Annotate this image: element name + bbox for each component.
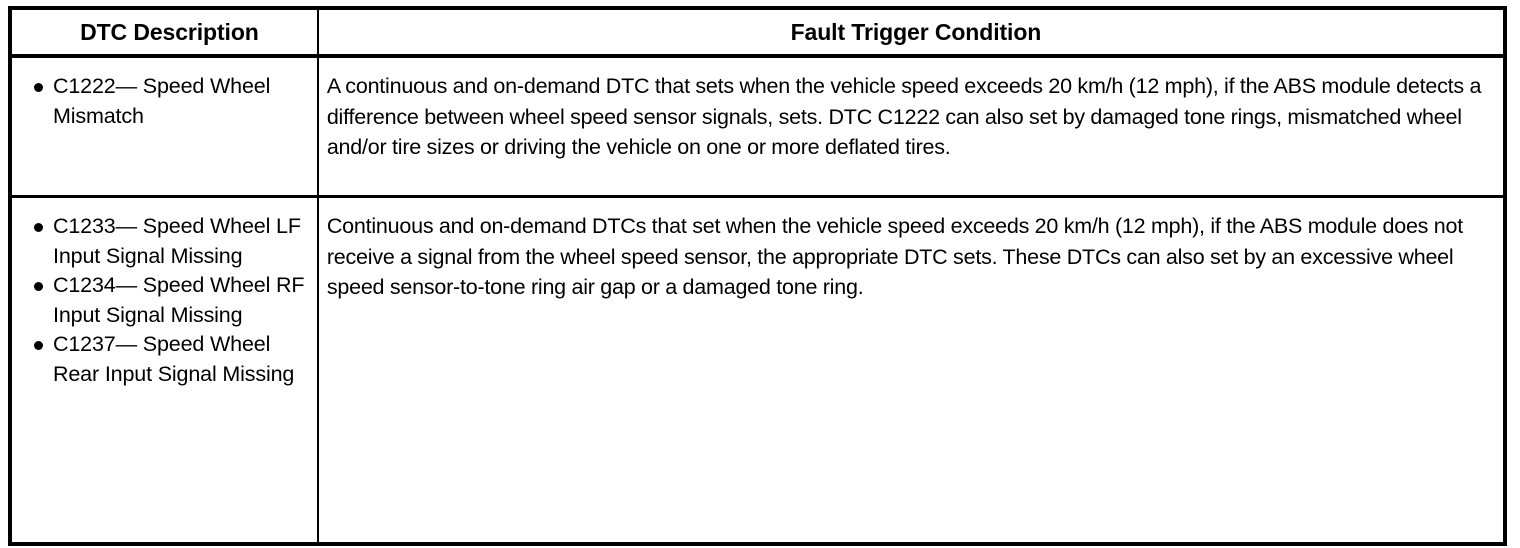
column-header-fault-trigger-condition-label: Fault Trigger Condition [319,10,1503,54]
bullet-icon [34,341,43,350]
table-header: DTC Description Fault Trigger Condition [10,8,1505,56]
list-item: C1237— Speed Wheel Rear Input Signal Mis… [22,330,311,389]
row-2-fault-trigger-condition-cell: Continuous and on-demand DTCs that set w… [318,197,1505,545]
table-body: C1222— Speed Wheel Mismatch A continuous… [10,56,1505,544]
row-1-condition-text: A continuous and on-demand DTC that sets… [319,58,1503,163]
table-row: C1233— Speed Wheel LF Input Signal Missi… [10,197,1505,545]
bullet-icon [34,282,43,291]
table-header-row: DTC Description Fault Trigger Condition [10,8,1505,56]
list-item: C1234— Speed Wheel RF Input Signal Missi… [22,271,311,330]
list-item-label: C1234— Speed Wheel RF Input Signal Missi… [53,271,311,330]
bullet-icon [34,223,43,232]
list-item: C1222— Speed Wheel Mismatch [22,72,311,131]
row-1-dtc-list: C1222— Speed Wheel Mismatch [12,58,317,131]
bullet-icon [34,83,43,92]
row-1-fault-trigger-condition-cell: A continuous and on-demand DTC that sets… [318,56,1505,197]
list-item-label: C1233— Speed Wheel LF Input Signal Missi… [53,212,311,271]
table-row: C1222— Speed Wheel Mismatch A continuous… [10,56,1505,197]
row-2-dtc-description-cell: C1233— Speed Wheel LF Input Signal Missi… [10,197,318,545]
row-1-dtc-description-cell: C1222— Speed Wheel Mismatch [10,56,318,197]
document-page: DTC Description Fault Trigger Condition … [0,0,1520,548]
list-item-label: C1237— Speed Wheel Rear Input Signal Mis… [53,330,311,389]
column-header-dtc-description-label: DTC Description [12,10,317,54]
row-2-dtc-list: C1233— Speed Wheel LF Input Signal Missi… [12,198,317,389]
row-2-condition-text: Continuous and on-demand DTCs that set w… [319,198,1503,303]
dtc-fault-table: DTC Description Fault Trigger Condition … [8,6,1507,546]
list-item-label: C1222— Speed Wheel Mismatch [53,72,311,131]
column-header-dtc-description: DTC Description [10,8,318,56]
list-item: C1233— Speed Wheel LF Input Signal Missi… [22,212,311,271]
column-header-fault-trigger-condition: Fault Trigger Condition [318,8,1505,56]
